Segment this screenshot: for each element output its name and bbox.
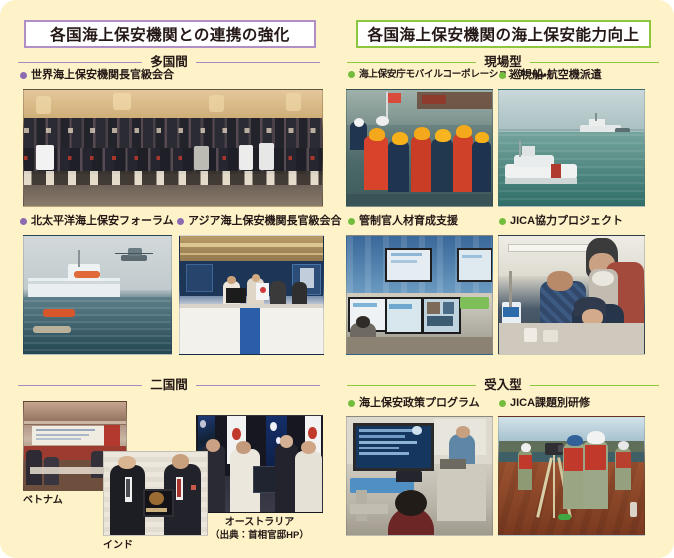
divider-line-right (196, 385, 320, 386)
section-label-onsite: 現場型 (476, 56, 530, 69)
section-divider-multilateral: 多国間 (18, 54, 320, 70)
section-divider-bilateral: 二国間 (18, 377, 320, 393)
section-label-inbound: 受入型 (476, 379, 530, 392)
caption-maritime-safety-policy-program: 海上保安政策プログラム (348, 398, 480, 409)
divider-line-left (347, 62, 476, 63)
caption-australia: オーストラリア （出典：首相官邸HP） (196, 517, 323, 541)
poster-root: 各国海上保安機関との連携の強化 多国間 世界海上保安機関長官級会合 (0, 0, 674, 558)
left-column: 各国海上保安機関との連携の強化 多国間 世界海上保安機関長官級会合 (0, 0, 337, 558)
photo-classroom-lecture (346, 416, 493, 536)
bullet-dot-icon (499, 72, 506, 79)
photo-bilateral-australia (196, 415, 323, 513)
caption-asia-heads-meeting: アジア海上保安機関長官級会合 (177, 216, 342, 227)
caption-jica-thematic-training: JICA課題別研修 (499, 398, 590, 409)
bullet-dot-icon (348, 71, 355, 78)
divider-line-left (347, 385, 476, 386)
photo-north-pacific-forum (23, 235, 172, 355)
photo-vts-control-room (346, 235, 493, 355)
caption-india: インド (103, 540, 133, 553)
photo-asia-heads-meeting (179, 235, 324, 355)
caption-australia-text: オーストラリア (225, 517, 295, 528)
bullet-dot-icon (348, 400, 355, 407)
right-column-title: 各国海上保安機関の海上保安能力向上 (356, 20, 651, 48)
bullet-dot-icon (348, 218, 355, 225)
caption-world-summit: 世界海上保安機関長官級会合 (20, 70, 174, 81)
caption-jica-project: JICA協力プロジェクト (499, 216, 623, 227)
bullet-dot-icon (20, 72, 27, 79)
caption-australia-source: （出典：首相官邸HP） (196, 530, 323, 542)
bullet-dot-icon (20, 218, 27, 225)
section-label-multilateral: 多国間 (142, 56, 196, 69)
caption-north-pacific-forum: 北太平洋海上保安フォーラム (20, 216, 174, 227)
photo-survey-training-pier (498, 416, 645, 536)
caption-vietnam: ベトナム (23, 495, 63, 508)
divider-line-left (18, 62, 142, 63)
divider-line-right (196, 62, 320, 63)
photo-bilateral-india (103, 451, 208, 536)
bullet-dot-icon (499, 400, 506, 407)
section-divider-onsite: 現場型 (347, 54, 659, 70)
divider-line-right (530, 62, 659, 63)
section-divider-inbound: 受入型 (347, 377, 659, 393)
photo-jica-lab-training (498, 235, 645, 355)
caption-patrol-vessel-dispatch: 巡視船・航空機派遣 (499, 70, 602, 81)
bullet-dot-icon (499, 218, 506, 225)
bullet-dot-icon (177, 218, 184, 225)
photo-patrol-boats-offshore (498, 89, 645, 207)
right-column: 各国海上保安機関の海上保安能力向上 現場型 海上保安庁モバイルコーポレーションチ… (337, 0, 674, 558)
photo-deck-training (346, 89, 493, 207)
photo-world-coast-guard-summit (23, 89, 323, 207)
section-label-bilateral: 二国間 (142, 379, 196, 392)
divider-line-left (18, 385, 142, 386)
divider-line-right (530, 385, 659, 386)
left-column-title: 各国海上保安機関との連携の強化 (24, 20, 316, 48)
caption-controller-training: 管制官人材育成支援 (348, 216, 458, 227)
